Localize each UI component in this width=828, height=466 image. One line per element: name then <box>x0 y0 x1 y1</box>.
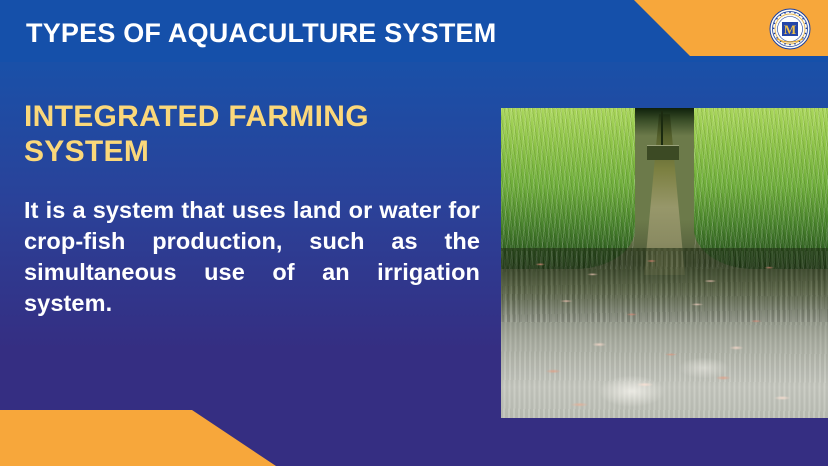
photo-water-base <box>501 108 828 418</box>
bottom-left-orange-wedge <box>0 410 280 466</box>
channel-gate <box>647 145 680 160</box>
body-paragraph: It is a system that uses land or water f… <box>24 195 480 319</box>
page-title: TYPES OF AQUACULTURE SYSTEM <box>26 18 496 49</box>
slide-canvas: TYPES OF AQUACULTURE SYSTEM M <box>0 0 828 466</box>
fish-shoal <box>501 251 828 418</box>
svg-text:M: M <box>784 22 796 37</box>
rice-plants-right <box>694 108 828 269</box>
section-subtitle: INTEGRATED FARMING SYSTEM <box>24 100 464 170</box>
institutional-seal-logo: M <box>769 8 811 50</box>
rice-plants-left <box>501 108 635 269</box>
rice-paddy-fish-culture-photo <box>501 108 828 418</box>
